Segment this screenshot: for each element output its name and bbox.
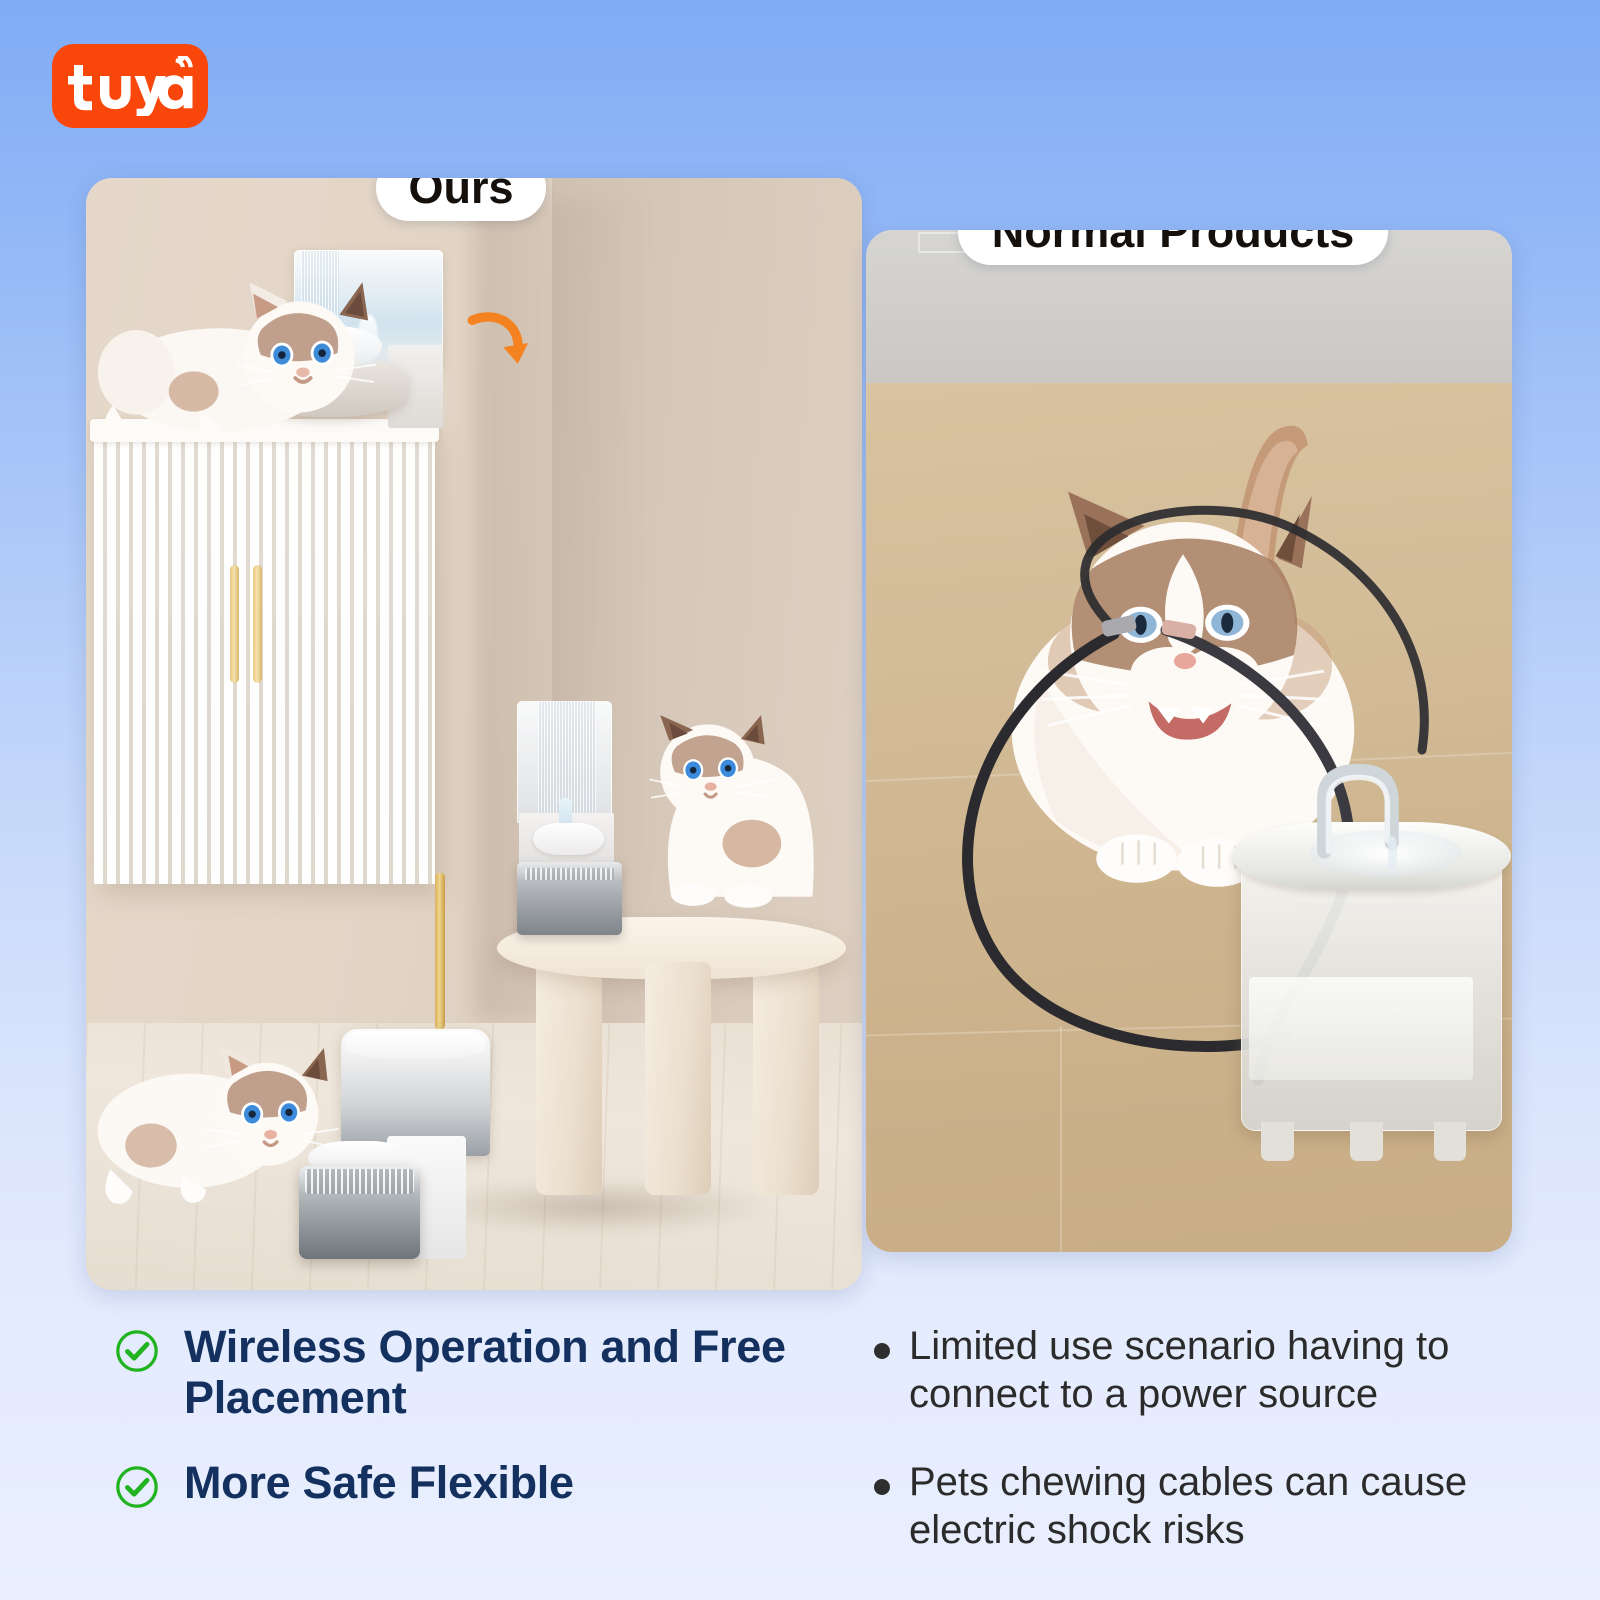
tuya-logo — [52, 44, 208, 128]
pros-item-label: Wireless Operation and Free Placement — [184, 1322, 814, 1424]
ours-photo-panel: Ours — [86, 178, 862, 1290]
cabinet-handle-right — [253, 565, 262, 684]
cons-list: Limited use scenario having to connect t… — [874, 1322, 1534, 1594]
foot — [1434, 1122, 1467, 1161]
product-comparison-infographic: Ours — [0, 0, 1600, 1600]
foot — [1350, 1122, 1383, 1161]
cat-sitting-on-table — [629, 678, 831, 945]
fountain-feet — [1252, 1122, 1485, 1161]
corded-water-fountain — [1241, 761, 1512, 1190]
cons-list-item: Limited use scenario having to connect t… — [874, 1322, 1534, 1418]
cons-item-label: Pets chewing cables can cause electric s… — [909, 1458, 1534, 1554]
fountain-base-basin — [517, 862, 623, 935]
bullet-dot-icon — [874, 1343, 890, 1359]
tuya-wordmark-icon — [64, 56, 196, 116]
foot — [1261, 1122, 1294, 1161]
table-leg-right — [753, 962, 819, 1196]
fountain-tank — [1241, 856, 1502, 1131]
badge-normal-products: Normal Products — [958, 230, 1388, 265]
cabinet-handle-left — [230, 565, 239, 684]
check-circle-icon — [114, 1464, 160, 1510]
chrome-spout-icon — [1298, 736, 1429, 882]
ours-scene — [86, 178, 862, 1290]
cons-list-item: Pets chewing cables can cause electric s… — [874, 1458, 1534, 1554]
cat-drinking-on-floor — [94, 990, 342, 1257]
fluted-cabinet — [94, 428, 435, 884]
pros-item-label: More Safe Flexible — [184, 1458, 574, 1509]
pros-list-item: More Safe Flexible — [114, 1458, 814, 1510]
fountain-bowl — [533, 823, 604, 855]
badge-ours: Ours — [376, 178, 546, 221]
pros-list-item: Wireless Operation and Free Placement — [114, 1322, 814, 1424]
normal-products-scene — [866, 230, 1512, 1252]
table-leg-center — [645, 962, 711, 1196]
cat-drinking-on-cabinet — [94, 245, 420, 479]
bullet-dot-icon — [874, 1479, 890, 1495]
check-circle-icon — [114, 1328, 160, 1374]
pros-list: Wireless Operation and Free Placement Mo… — [114, 1322, 814, 1544]
cons-item-label: Limited use scenario having to connect t… — [909, 1322, 1534, 1418]
water-level — [1249, 977, 1472, 1081]
table-leg-left — [536, 962, 602, 1196]
normal-products-photo-panel: Normal Products — [866, 230, 1512, 1252]
cabinet-leg — [435, 873, 445, 1029]
orange-arrow-icon — [466, 300, 528, 378]
